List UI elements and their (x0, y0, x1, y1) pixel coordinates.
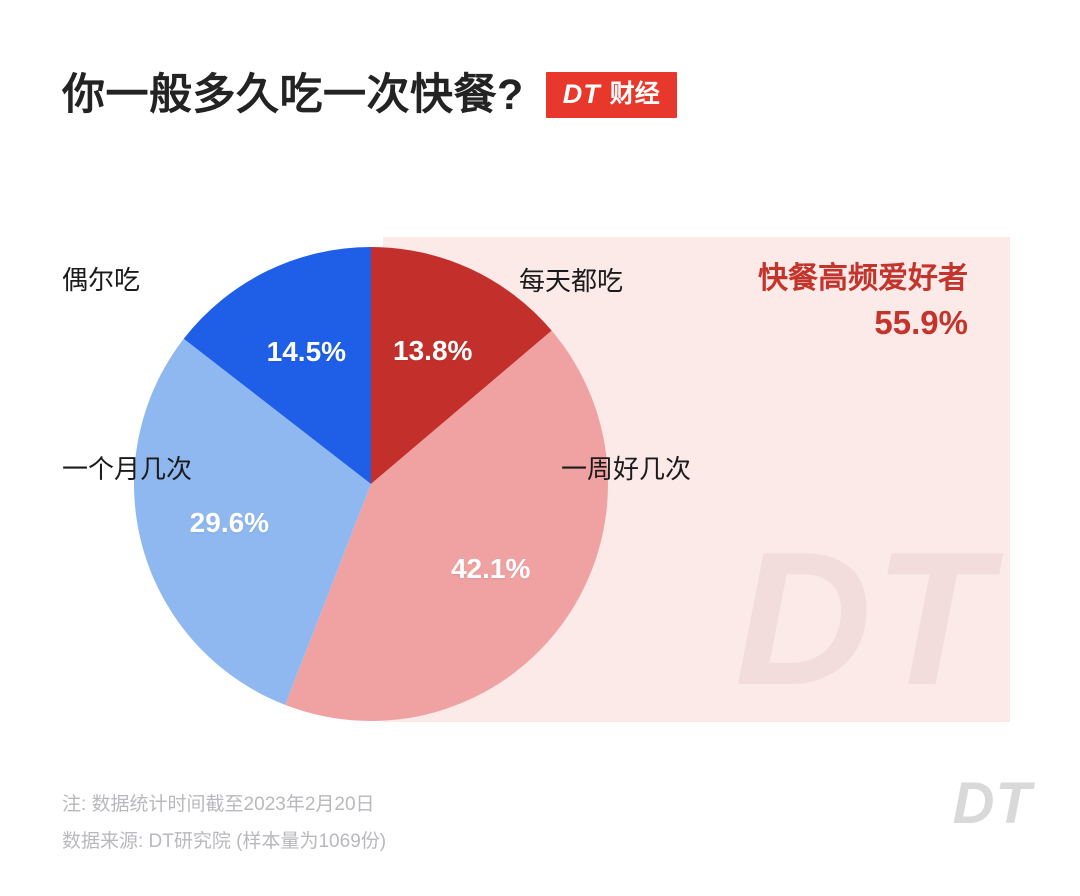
footer-note-line-2: 数据来源: DT研究院 (样本量为1069份) (62, 823, 386, 860)
dt-watermark-icon: DT (735, 524, 992, 714)
pie-chart: 13.8%42.1%29.6%14.5% (134, 247, 608, 721)
highlight-label: 快餐高频爱好者 (758, 260, 968, 298)
pie-slice-value: 13.8% (393, 335, 472, 367)
pie-category-label-every-day: 每天都吃 (519, 261, 623, 298)
highlight-callout: 快餐高频爱好者 55.9% (758, 260, 968, 344)
pie-category-label-occasionally: 偶尔吃 (62, 260, 140, 297)
brand-name-label: 财经 (610, 82, 660, 107)
footer-notes: 注: 数据统计时间截至2023年2月20日 数据来源: DT研究院 (样本量为1… (62, 786, 386, 860)
infographic-page: 你一般多久吃一次快餐? DT 财经 DT 快餐高频爱好者 55.9% 13.8%… (0, 0, 1080, 896)
brand-badge: DT 财经 (546, 72, 677, 118)
pie-category-label-several-times-week: 一周好几次 (561, 449, 691, 486)
page-title: 你一般多久吃一次快餐? (62, 74, 524, 117)
footer-note-line-1: 注: 数据统计时间截至2023年2月20日 (62, 786, 386, 823)
pie-chart-svg (134, 247, 608, 721)
pie-category-label-few-times-month: 一个月几次 (62, 449, 192, 486)
dt-footer-watermark-icon: DT (953, 775, 1032, 833)
pie-slice-value: 14.5% (267, 336, 346, 368)
highlight-value: 55.9% (758, 302, 968, 345)
header: 你一般多久吃一次快餐? DT 财经 (62, 72, 677, 118)
pie-slice-value: 29.6% (190, 507, 269, 539)
brand-dt-logo: DT (563, 81, 601, 108)
pie-slice-value: 42.1% (451, 553, 530, 585)
